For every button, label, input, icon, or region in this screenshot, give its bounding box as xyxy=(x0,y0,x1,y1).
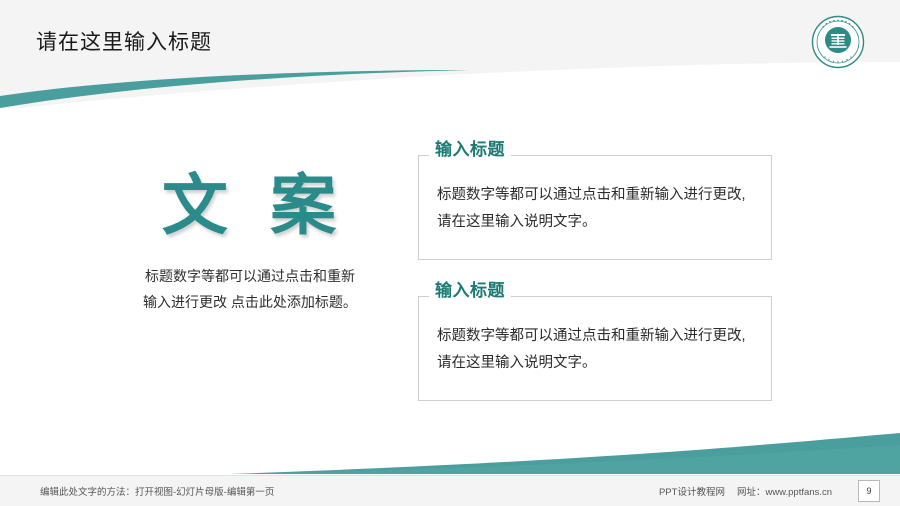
left-column: 文 案 标题数字等都可以通过点击和重新输入进行更改 点击此处添加标题。 xyxy=(120,168,380,316)
panel-1-title: 输入标题 xyxy=(429,141,511,158)
content-panel-1[interactable]: 输入标题 标题数字等都可以通过点击和重新输入进行更改,请在这里输入说明文字。 xyxy=(418,155,772,260)
headline-text: 文 案 xyxy=(130,168,380,244)
panel-2-title: 输入标题 xyxy=(429,282,511,299)
left-description: 标题数字等都可以通过点击和重新输入进行更改 点击此处添加标题。 xyxy=(120,264,380,316)
footer-credit: PPT设计教程网网址：www.pptfans.cn xyxy=(659,484,832,498)
footer-note: 编辑此处文字的方法：打开视图-幻灯片母版-编辑第一页 xyxy=(40,484,274,498)
page-number-badge: 9 xyxy=(858,480,880,502)
panel-1-body: 标题数字等都可以通过点击和重新输入进行更改,请在这里输入说明文字。 xyxy=(419,156,771,236)
university-seal-logo xyxy=(811,15,865,69)
content-panel-2[interactable]: 输入标题 标题数字等都可以通过点击和重新输入进行更改,请在这里输入说明文字。 xyxy=(418,296,772,401)
footer-bar: 编辑此处文字的方法：打开视图-幻灯片母版-编辑第一页 PPT设计教程网网址：ww… xyxy=(0,475,900,506)
slide-canvas: 请在这里输入标题 xyxy=(0,0,900,506)
footer-url: 网址：www.pptfans.cn xyxy=(737,487,832,498)
footer-site-name: PPT设计教程网 xyxy=(659,487,725,498)
panel-2-body: 标题数字等都可以通过点击和重新输入进行更改,请在这里输入说明文字。 xyxy=(419,297,771,377)
footer-swoosh xyxy=(0,431,900,476)
page-title: 请在这里输入标题 xyxy=(36,26,212,56)
